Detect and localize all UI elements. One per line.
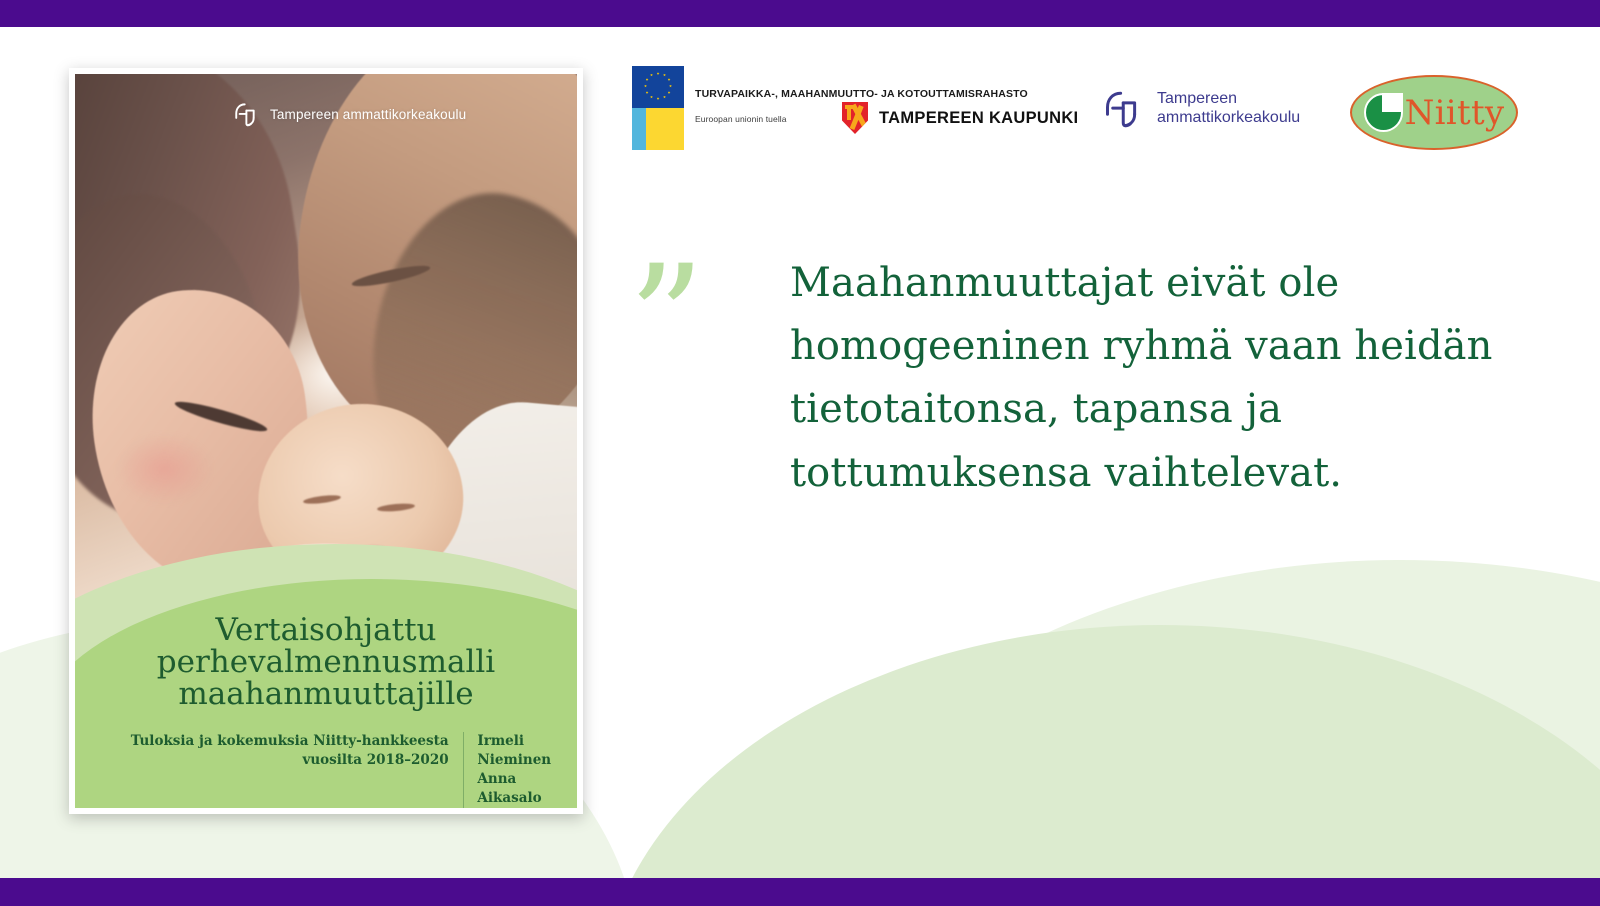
eu-flag-stars: [632, 66, 684, 108]
quotation-mark-icon: ”: [628, 246, 701, 396]
tampere-city-logo: TAMPEREEN KAUPUNKI: [842, 102, 1078, 134]
book-cover: Tampereen ammattikorkeakoulu Vertaisohja…: [69, 68, 583, 814]
niitty-logo: Niitty: [1350, 75, 1518, 150]
eu-fund-title: TURVAPAIKKA-, MAAHANMUUTTO- JA KOTOUTTAM…: [695, 88, 1028, 102]
cover-author: Anna Aikasalo: [477, 770, 577, 808]
quote-text: Maahanmuuttajat eivät ole homogeeninen r…: [790, 252, 1570, 505]
eu-flag-icon: [632, 66, 684, 150]
bottom-accent-bar: [0, 878, 1600, 906]
eu-flag-yellow-field: [646, 108, 684, 150]
cover-tamk-logo: Tampereen ammattikorkeakoulu: [234, 101, 466, 128]
book-cover-inner: Tampereen ammattikorkeakoulu Vertaisohja…: [75, 74, 577, 808]
tampere-city-name: TAMPEREEN KAUPUNKI: [879, 109, 1078, 128]
tamk-bracket-icon: [234, 101, 261, 128]
tamk-logo-line2: ammattikorkeakoulu: [1157, 109, 1300, 128]
logo-strip: TURVAPAIKKA-, MAAHANMUUTTO- JA KOTOUTTAM…: [632, 66, 1532, 158]
cover-author: Irmeli Nieminen: [477, 732, 577, 770]
cover-subtitle: Tuloksia ja kokemuksia Niitty-hankkeesta…: [75, 732, 463, 770]
cover-text-block: Vertaisohjattu perhevalmennusmalli maaha…: [75, 614, 577, 808]
cover-meta: Tuloksia ja kokemuksia Niitty-hankkeesta…: [75, 732, 577, 808]
cover-title: Vertaisohjattu perhevalmennusmalli maaha…: [75, 614, 577, 711]
eu-flag-cyan-stripe: [632, 108, 646, 150]
photo-woman-cheek: [117, 434, 212, 504]
tamk-logo-text: Tampereen ammattikorkeakoulu: [1157, 90, 1300, 128]
cover-tamk-logo-text: Tampereen ammattikorkeakoulu: [270, 107, 466, 122]
niitty-leaf-icon: [1364, 93, 1403, 132]
top-accent-bar: [0, 0, 1600, 27]
slide: Tampereen ammattikorkeakoulu Vertaisohja…: [0, 0, 1600, 906]
cover-authors: Irmeli Nieminen Anna Aikasalo Jasmin Kal…: [463, 732, 577, 808]
tamk-logo: Tampereen ammattikorkeakoulu: [1104, 88, 1300, 130]
tampere-coat-of-arms-icon: [842, 102, 868, 134]
tamk-logo-line1: Tampereen: [1157, 90, 1300, 109]
tamk-bracket-icon: [1104, 88, 1146, 130]
niitty-logo-text: Niitty: [1405, 96, 1505, 130]
